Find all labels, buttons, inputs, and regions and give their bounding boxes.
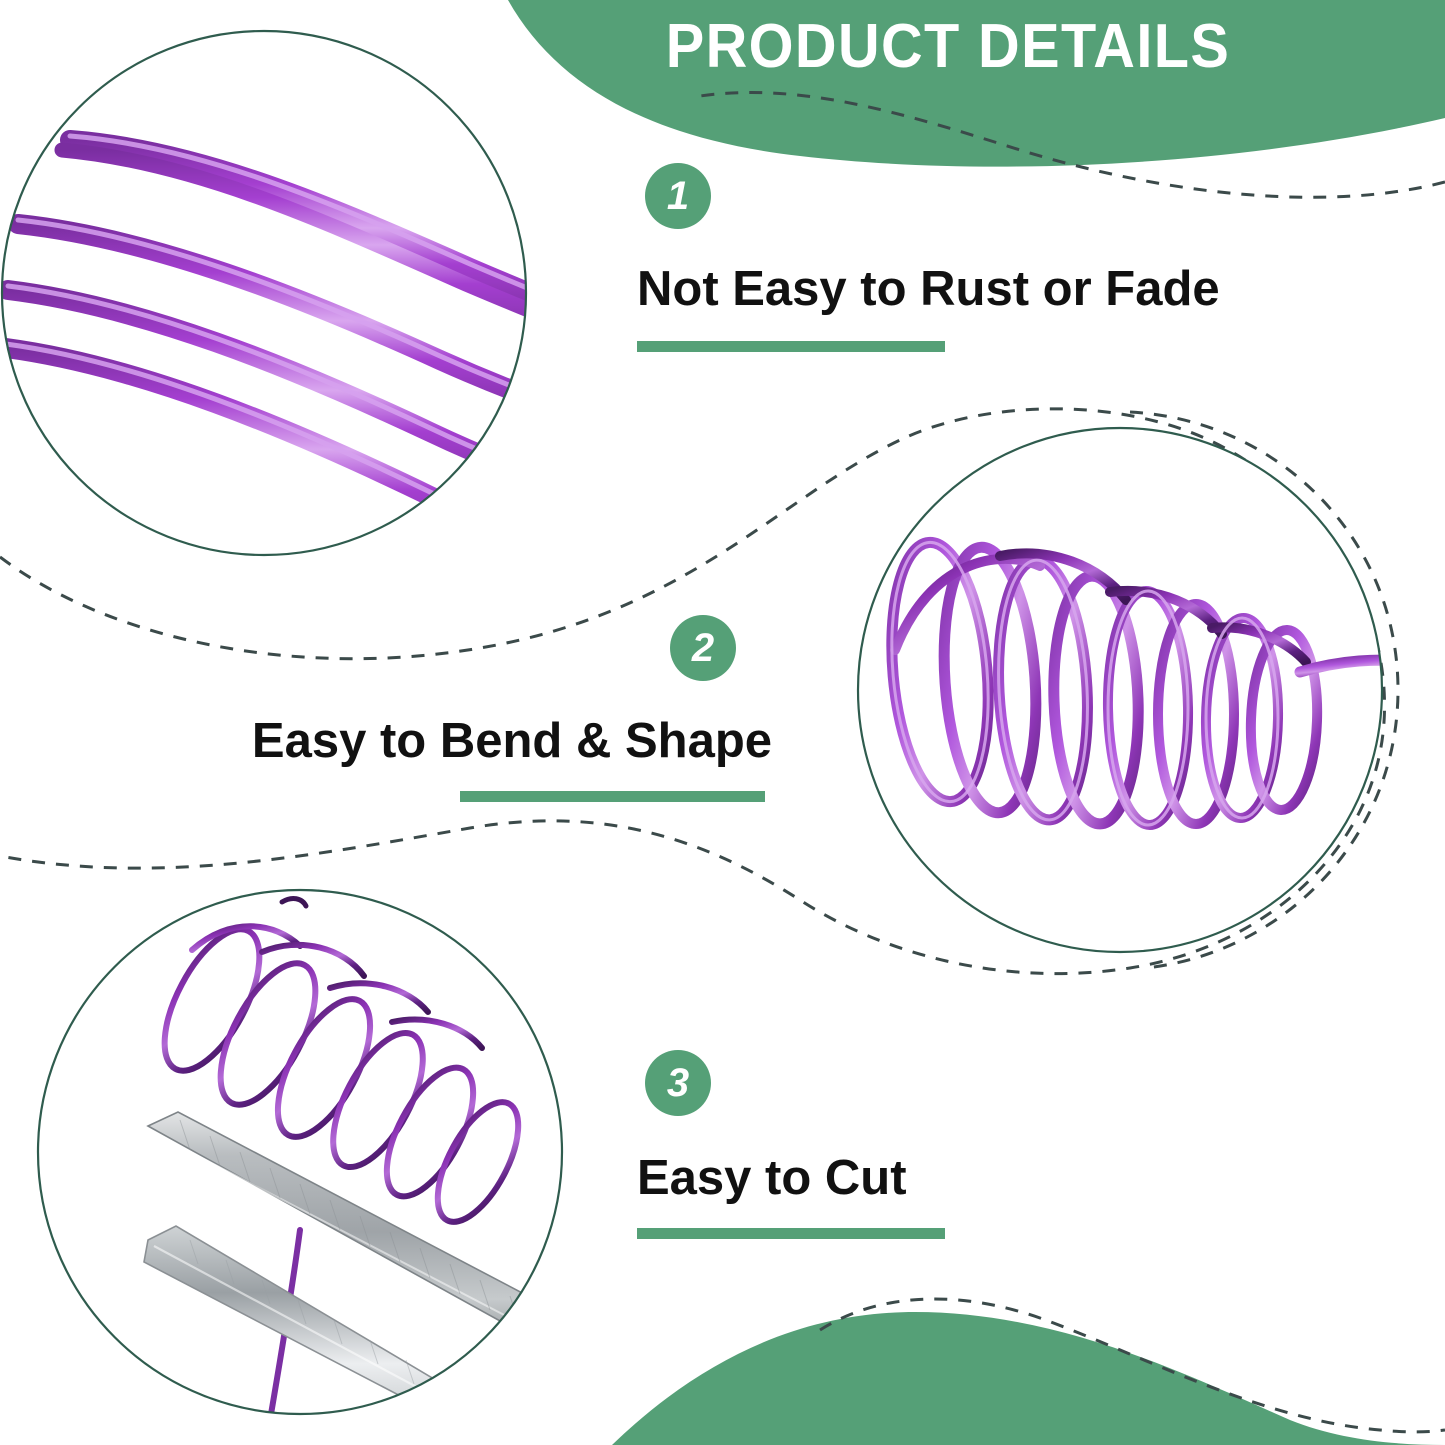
dashed-curve-bottom — [820, 1299, 1445, 1432]
footer-green-wave — [612, 1312, 1445, 1445]
feature-title-2: Easy to Bend & Shape — [250, 713, 772, 769]
feature-item-2: 2 Easy to Bend & Shape — [250, 615, 772, 802]
feature-number-1: 1 — [667, 176, 689, 216]
feature-item-3: 3 Easy to Cut — [637, 1050, 945, 1239]
feature-number-badge-1: 1 — [645, 163, 711, 229]
feature-title-3: Easy to Cut — [637, 1150, 945, 1206]
feature-underline-3 — [637, 1228, 945, 1239]
page-title: PRODUCT DETAILS — [650, 12, 1245, 82]
photo-circle-wire-coil — [858, 412, 1412, 968]
photo-circle-scissors-cut — [38, 890, 566, 1445]
feature-item-1: 1 Not Easy to Rust or Fade — [637, 163, 1220, 352]
feature-number-badge-2: 2 — [670, 615, 736, 681]
scissor-blade-upper — [148, 1112, 566, 1352]
feature-underline-2 — [460, 791, 765, 802]
photo-circle-wire-strands — [0, 28, 686, 578]
feature-number-2: 2 — [692, 628, 714, 668]
feature-number-badge-3: 3 — [645, 1050, 711, 1116]
feature-underline-1 — [637, 341, 945, 352]
feature-title-1: Not Easy to Rust or Fade — [637, 261, 1220, 317]
scissor-blade-lower — [144, 1226, 520, 1445]
infographic-canvas: PRODUCT DETAILS 1 Not Easy to Rust or Fa… — [0, 0, 1445, 1445]
dashed-arc-circle2 — [1130, 412, 1398, 968]
feature-number-3: 3 — [667, 1063, 689, 1103]
